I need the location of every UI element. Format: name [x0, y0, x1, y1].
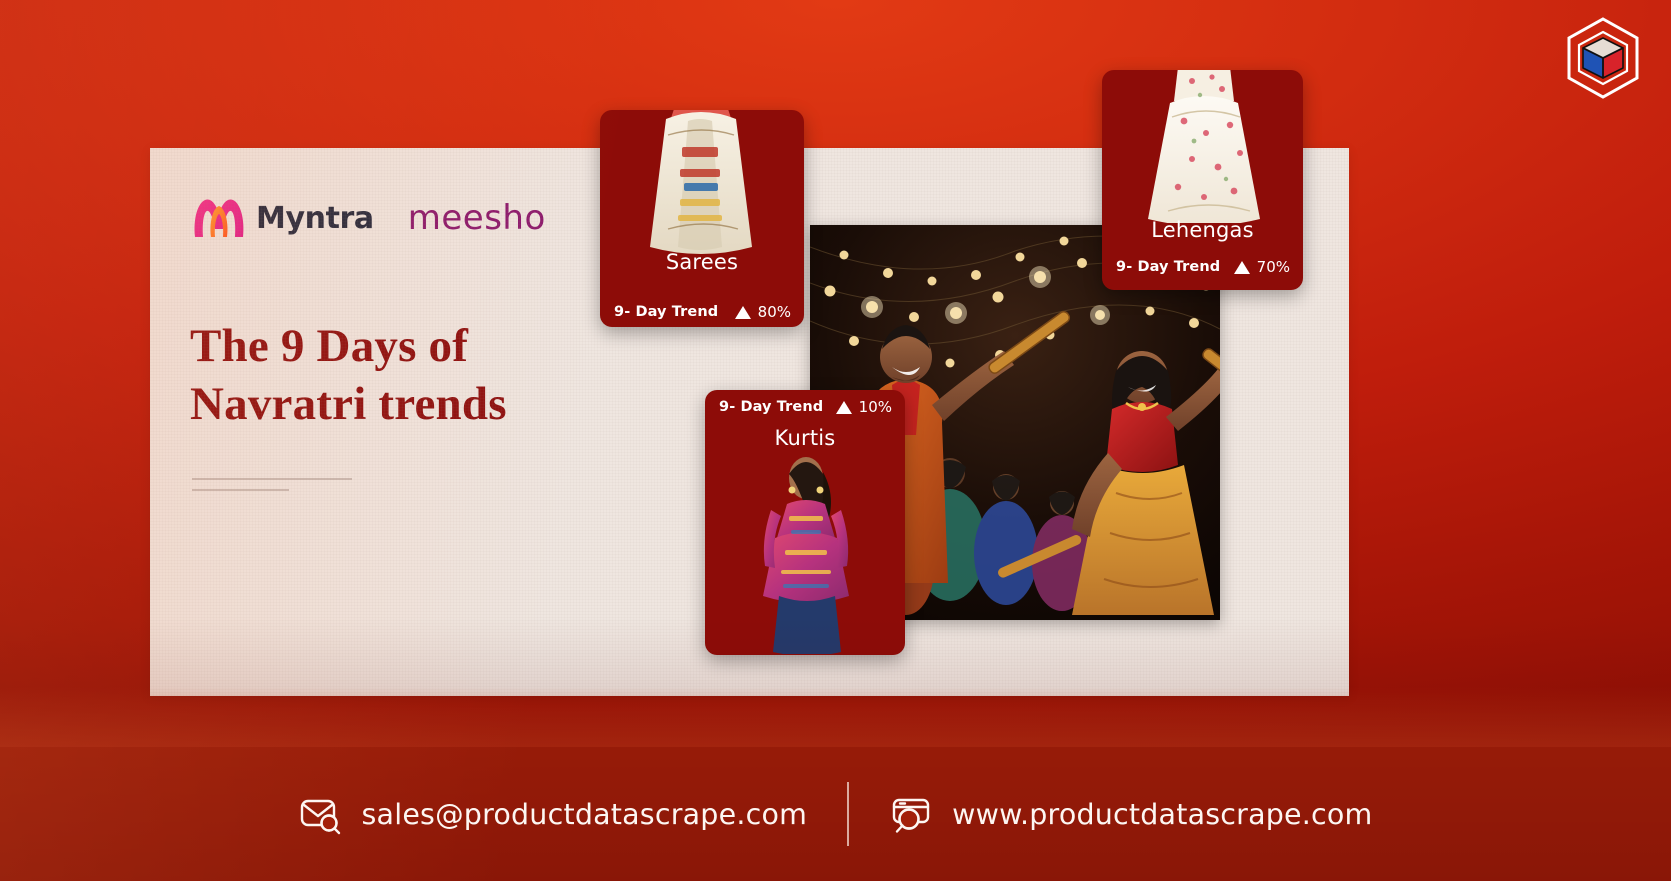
- trend-row-lehengas: 9- Day Trend 70%: [1116, 258, 1290, 276]
- trend-card-lehengas[interactable]: Lehengas 9- Day Trend 70%: [1102, 70, 1303, 290]
- trend-label-sarees: 9- Day Trend: [614, 304, 718, 320]
- trend-percent-sarees: 80%: [758, 303, 791, 321]
- trend-up-arrow-icon: [735, 306, 751, 319]
- poster-stage: Myntra meesho The 9 Days of Navratri tre…: [0, 0, 1671, 881]
- email-text: sales@productdatascrape.com: [361, 798, 807, 831]
- contact-email[interactable]: sales@productdatascrape.com: [298, 792, 807, 836]
- trend-value-group-lehengas: 70%: [1234, 258, 1290, 276]
- contact-website[interactable]: www.productdatascrape.com: [889, 792, 1372, 836]
- kurti-model-photo: [745, 454, 867, 654]
- trend-percent-kurtis: 10%: [859, 398, 892, 416]
- card-title-kurtis: Kurtis: [705, 426, 905, 450]
- saree-model-photo: [622, 110, 780, 255]
- envelope-search-icon: [298, 792, 342, 836]
- trend-up-arrow-icon: [1234, 261, 1250, 274]
- product-data-scrape-cube-logo[interactable]: [1561, 16, 1645, 100]
- page-title-line-1: The 9 Days of: [190, 320, 468, 372]
- trend-row-kurtis: 9- Day Trend 10%: [719, 398, 892, 416]
- card-title-sarees: Sarees: [600, 250, 804, 274]
- trend-card-sarees[interactable]: Sarees 9- Day Trend 80%: [600, 110, 804, 327]
- myntra-m-icon: [192, 196, 246, 240]
- brand-meesho[interactable]: meesho: [408, 198, 546, 238]
- title-underline-short: [192, 489, 289, 491]
- brand-myntra[interactable]: Myntra: [192, 196, 374, 240]
- trend-card-kurtis[interactable]: 9- Day Trend 10% Kurtis: [705, 390, 905, 655]
- trend-percent-lehengas: 70%: [1257, 258, 1290, 276]
- brand-row: Myntra meesho: [192, 196, 546, 240]
- trend-up-arrow-icon: [836, 401, 852, 414]
- trend-label-lehengas: 9- Day Trend: [1116, 259, 1220, 275]
- footer-contact-bar: sales@productdatascrape.com www.productd…: [0, 747, 1671, 881]
- browser-search-icon: [889, 792, 933, 836]
- meesho-wordmark: meesho: [408, 198, 546, 238]
- website-text: www.productdatascrape.com: [952, 798, 1372, 831]
- title-underline-long: [192, 478, 352, 480]
- page-title: The 9 Days of Navratri trends: [190, 318, 620, 434]
- myntra-wordmark: Myntra: [256, 201, 374, 236]
- page-title-line-2: Navratri trends: [190, 378, 507, 430]
- card-title-lehengas: Lehengas: [1102, 218, 1303, 242]
- footer-divider: [847, 782, 849, 846]
- title-underline-group: [192, 478, 352, 500]
- lehenga-mannequin-photo: [1134, 70, 1274, 223]
- trend-row-sarees: 9- Day Trend 80%: [614, 303, 791, 321]
- trend-value-group-kurtis: 10%: [836, 398, 892, 416]
- trend-value-group-sarees: 80%: [735, 303, 791, 321]
- trend-label-kurtis: 9- Day Trend: [719, 399, 823, 415]
